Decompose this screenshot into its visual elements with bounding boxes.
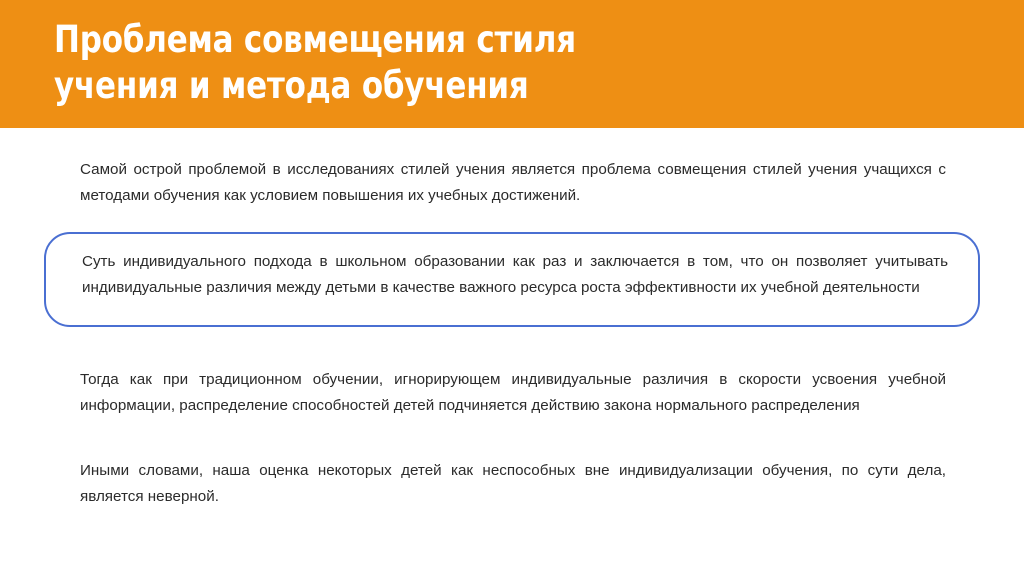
paragraph-intro: Самой острой проблемой в исследованиях с… [80,157,946,209]
header-banner: Проблема совмещения стиля учения и метод… [0,0,1024,128]
callout-text: Суть индивидуального подхода в школьном … [82,249,948,301]
paragraph-traditional-teaching: Тогда как при традиционном обучении, игн… [80,367,946,419]
slide-title: Проблема совмещения стиля учения и метод… [54,17,910,109]
presentation-slide: Проблема совмещения стиля учения и метод… [0,0,1024,574]
paragraph-conclusion: Иными словами, наша оценка некоторых дет… [80,458,946,510]
highlight-callout-box: Суть индивидуального подхода в школьном … [44,232,980,327]
